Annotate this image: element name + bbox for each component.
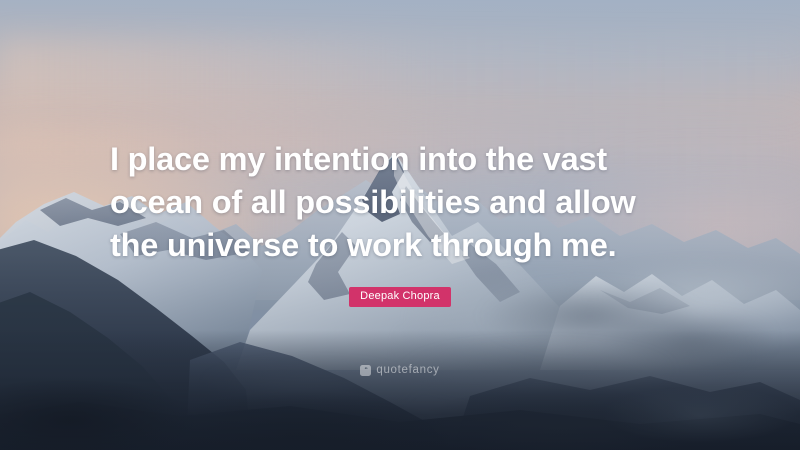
- quote-card: I place my intention into the vast ocean…: [0, 0, 800, 450]
- watermark: “ quotefancy: [0, 364, 800, 376]
- author-badge: Deepak Chopra: [349, 287, 451, 307]
- quote-text: I place my intention into the vast ocean…: [110, 138, 690, 267]
- watermark-brand: quotefancy: [376, 364, 439, 376]
- quote-mark-icon: “: [360, 365, 371, 376]
- author-area: Deepak Chopra: [0, 286, 800, 307]
